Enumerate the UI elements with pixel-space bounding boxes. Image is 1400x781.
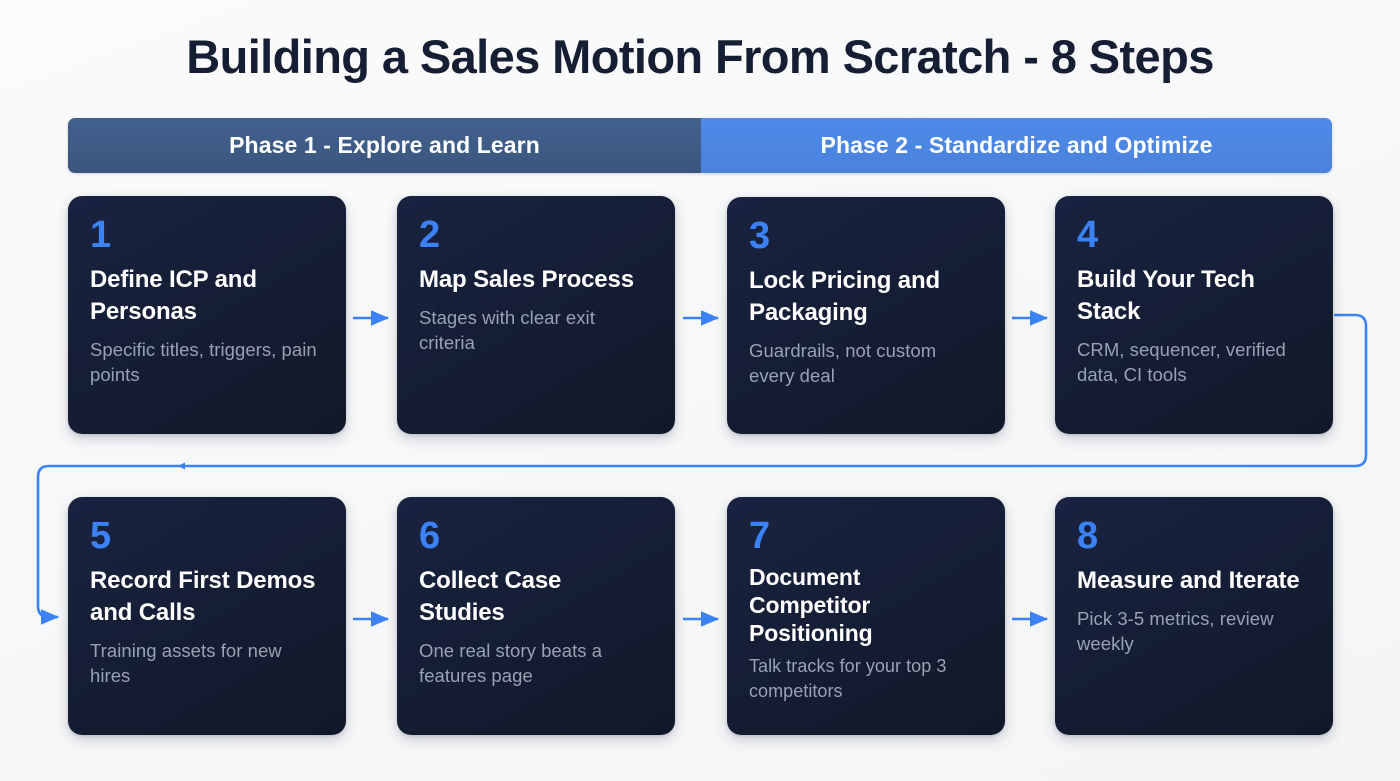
step-title-1: Define ICP and Personas	[90, 264, 324, 328]
step-number-8: 8	[1077, 517, 1311, 555]
step-card-2[interactable]: 2 Map Sales Process Stages with clear ex…	[397, 196, 675, 434]
step-title-2: Map Sales Process	[419, 264, 653, 296]
step-card-8[interactable]: 8 Measure and Iterate Pick 3-5 metrics, …	[1055, 497, 1333, 735]
step-card-6[interactable]: 6 Collect Case Studies One real story be…	[397, 497, 675, 735]
phase-1-label: Phase 1 - Explore and Learn	[68, 118, 701, 173]
step-card-4[interactable]: 4 Build Your Tech Stack CRM, sequencer, …	[1055, 196, 1333, 434]
step-description-4: CRM, sequencer, verified data, CI tools	[1077, 337, 1311, 388]
infographic-canvas: Building a Sales Motion From Scratch - 8…	[0, 0, 1400, 781]
step-title-5: Record First Demos and Calls	[90, 565, 324, 629]
step-description-2: Stages with clear exit criteria	[419, 305, 653, 356]
step-description-1: Specific titles, triggers, pain points	[90, 337, 324, 388]
step-number-1: 1	[90, 216, 324, 254]
step-title-3: Lock Pricing and Packaging	[749, 265, 983, 329]
step-number-5: 5	[90, 517, 324, 555]
step-card-1[interactable]: 1 Define ICP and Personas Specific title…	[68, 196, 346, 434]
step-description-8: Pick 3-5 metrics, review weekly	[1077, 606, 1311, 657]
step-title-8: Measure and Iterate	[1077, 565, 1311, 597]
step-number-6: 6	[419, 517, 653, 555]
step-number-7: 7	[749, 517, 983, 555]
step-number-3: 3	[749, 217, 983, 255]
step-description-6: One real story beats a features page	[419, 638, 653, 689]
phase-2-label: Phase 2 - Standardize and Optimize	[701, 118, 1332, 173]
step-title-4: Build Your Tech Stack	[1077, 264, 1311, 328]
phase-bar: Phase 1 - Explore and Learn Phase 2 - St…	[68, 118, 1332, 173]
step-number-2: 2	[419, 216, 653, 254]
step-title-6: Collect Case Studies	[419, 565, 653, 629]
page-title: Building a Sales Motion From Scratch - 8…	[0, 30, 1400, 84]
step-card-5[interactable]: 5 Record First Demos and Calls Training …	[68, 497, 346, 735]
step-card-3[interactable]: 3 Lock Pricing and Packaging Guardrails,…	[727, 197, 1005, 434]
step-card-7[interactable]: 7 Document Competitor Positioning Talk t…	[727, 497, 1005, 735]
step-description-3: Guardrails, not custom every deal	[749, 338, 983, 389]
step-number-4: 4	[1077, 216, 1311, 254]
step-description-7: Talk tracks for your top 3 competitors	[749, 654, 983, 704]
step-description-5: Training assets for new hires	[90, 638, 324, 689]
step-title-7: Document Competitor Positioning	[749, 563, 983, 647]
